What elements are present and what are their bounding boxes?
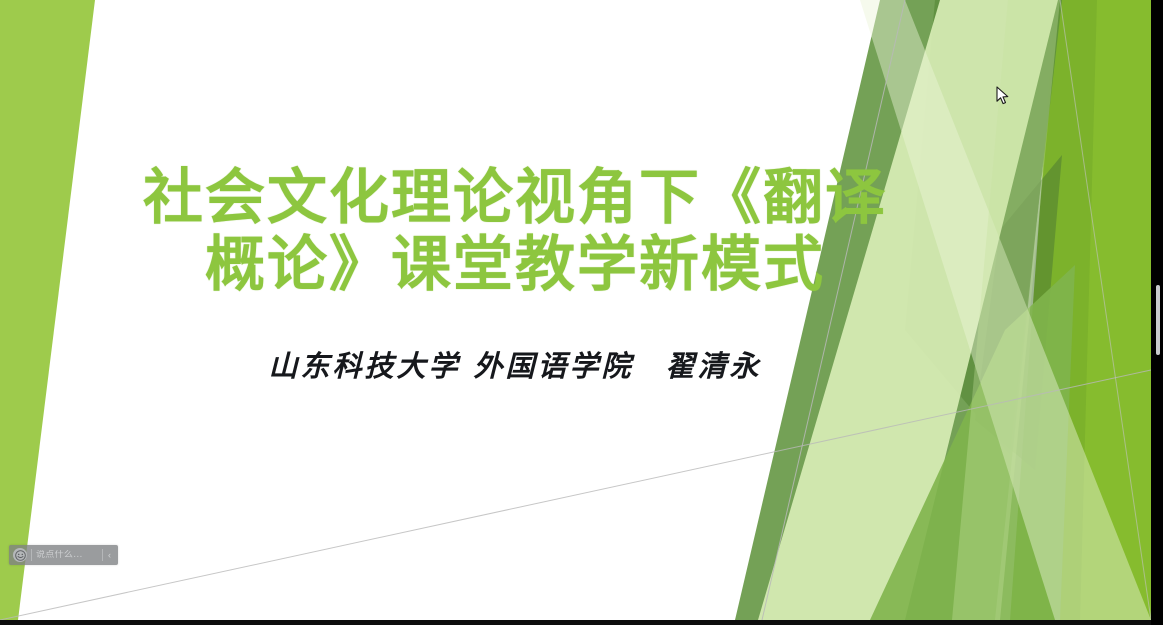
comment-input[interactable] bbox=[32, 550, 102, 560]
comment-input-bar[interactable]: ‹ bbox=[9, 545, 118, 565]
bottom-black-strip bbox=[0, 620, 1151, 625]
presentation-slide[interactable]: 社会文化理论视角下《翻译概论》课堂教学新模式 山东科技大学 外国语学院 翟清永 bbox=[0, 0, 1151, 620]
slide-watermark bbox=[108, 14, 748, 44]
collapse-comment-bar-button[interactable]: ‹ bbox=[103, 547, 116, 563]
smiley-face-icon[interactable] bbox=[13, 548, 27, 562]
vertical-scrollbar-thumb[interactable] bbox=[1156, 285, 1160, 355]
right-edge-rail bbox=[1151, 0, 1163, 625]
slide-background-artwork bbox=[0, 0, 1151, 620]
screen-root: 社会文化理论视角下《翻译概论》课堂教学新模式 山东科技大学 外国语学院 翟清永 … bbox=[0, 0, 1163, 625]
